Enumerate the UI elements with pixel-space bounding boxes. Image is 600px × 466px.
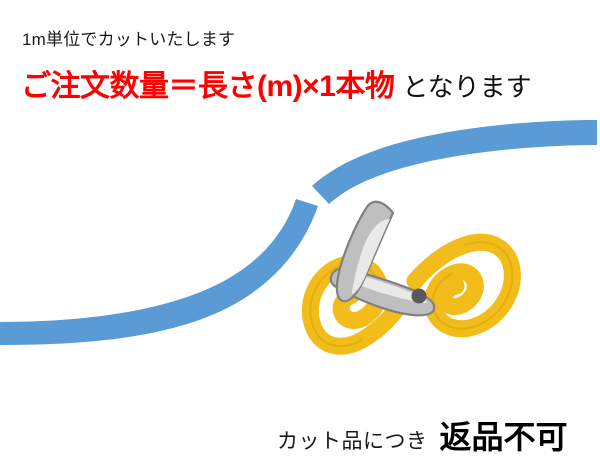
cut-service-banner: 1m単位でカットいたします ご注文数量＝長さ(m)×1本物となります カット品に…	[0, 0, 600, 466]
scissors-pivot	[412, 289, 427, 304]
scissors-icon	[0, 0, 600, 466]
scissors-handle-upper	[415, 242, 512, 328]
